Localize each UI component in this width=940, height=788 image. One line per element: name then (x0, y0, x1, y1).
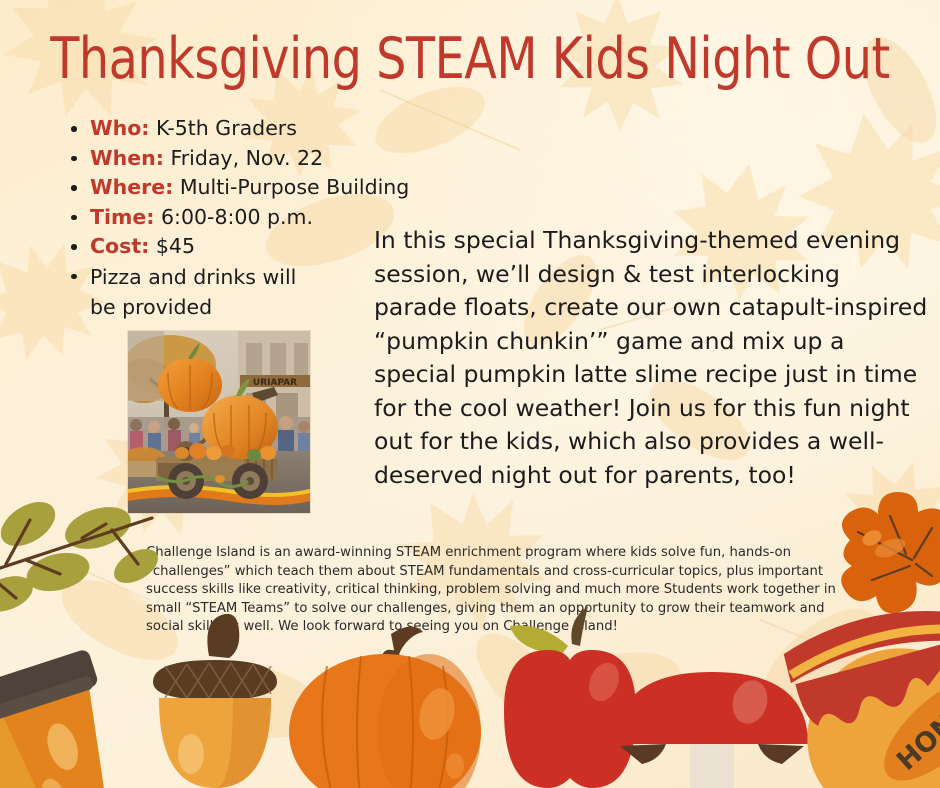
detail-value-when: Friday, Nov. 22 (170, 146, 323, 170)
event-description: In this special Thanksgiving-themed even… (374, 224, 930, 492)
detail-label-time: Time: (90, 205, 154, 229)
detail-value-who: K-5th Graders (156, 116, 297, 140)
detail-label-who: Who: (90, 116, 150, 140)
honey-jar-label: HONEY (891, 682, 940, 776)
orange-oak-leaf-decoration (828, 484, 940, 640)
coffee-cup-icon (0, 648, 134, 788)
detail-value-time: 6:00-8:00 p.m. (161, 205, 313, 229)
detail-value-cost: $45 (156, 234, 195, 258)
svg-text:URIAPAR: URIAPAR (253, 378, 297, 388)
list-item-food: Pizza and drinks will be provided (90, 262, 305, 322)
detail-value-where: Multi-Purpose Building (180, 175, 409, 199)
acorn-icon (153, 614, 277, 788)
page-title: Thanksgiving STEAM Kids Night Out (33, 26, 907, 92)
parade-float-photo: URIAPAR (128, 331, 310, 513)
program-description: Challenge Island is an award-winning STE… (146, 544, 838, 637)
flyer-canvas: Thanksgiving STEAM Kids Night Out Who: K… (0, 0, 940, 788)
list-item-when: When: Friday, Nov. 22 (90, 144, 490, 173)
detail-label-cost: Cost: (90, 234, 149, 258)
olive-leaf-branch-decoration (0, 494, 162, 634)
list-item-where: Where: Multi-Purpose Building (90, 173, 490, 202)
detail-value-food: Pizza and drinks will be provided (90, 265, 296, 319)
mushroom-icon (616, 672, 808, 788)
detail-label-where: Where: (90, 175, 173, 199)
detail-label-when: When: (90, 146, 164, 170)
list-item-who: Who: K-5th Graders (90, 114, 490, 143)
pumpkin-icon (289, 626, 481, 788)
